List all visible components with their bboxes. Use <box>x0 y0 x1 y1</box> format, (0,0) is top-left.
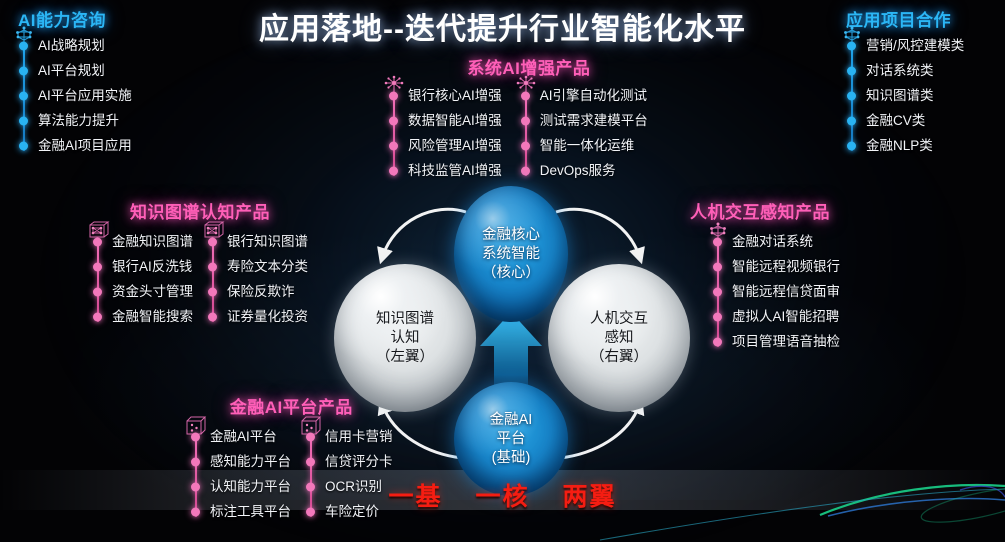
bullet-dot <box>93 237 102 246</box>
block-human-interaction: 人机交互感知产品 金融对话系统 智能远程视频银行 智能远程信贷面审 虚拟人AI智… <box>690 198 840 354</box>
list-item-label: 寿险文本分类 <box>227 259 308 274</box>
list-item-label: 测试需求建模平台 <box>540 113 648 128</box>
bullet-dot <box>208 237 217 246</box>
sphere-right-line-3: （右翼） <box>590 348 648 367</box>
list-column: 营销/风控建模类 对话系统类 知识图谱类 金融CV类 金融NLP类 <box>846 33 964 158</box>
list-column: AI战略规划 AI平台规划 AI平台应用实施 算法能力提升 金融AI项目应用 <box>18 33 132 158</box>
bullet-dot <box>208 262 217 271</box>
list-item-label: AI引擎自动化测试 <box>540 88 647 103</box>
bullet-dot <box>19 141 28 150</box>
list-item[interactable]: 算法能力提升 <box>38 108 132 133</box>
bullet-dot <box>847 141 856 150</box>
list-item[interactable]: 感知能力平台 <box>210 449 291 474</box>
bullet-dot <box>19 91 28 100</box>
list-item[interactable]: 科技监管AI增强 <box>408 158 502 183</box>
list-item[interactable]: 银行知识图谱 <box>227 229 308 254</box>
list-item-label: 金融知识图谱 <box>112 234 193 249</box>
list-item-label: 算法能力提升 <box>38 113 119 128</box>
list-item-label: DevOps服务 <box>540 163 616 178</box>
list-item[interactable]: 虚拟人AI智能招聘 <box>732 304 840 329</box>
slide-canvas: 应用落地--迭代提升行业智能化水平 AI能力咨询 AI战略规划 AI平台规划 A… <box>0 0 1005 542</box>
list-item[interactable]: 对话系统类 <box>866 58 964 83</box>
bullet-dot <box>93 312 102 321</box>
list-item[interactable]: 智能远程视频银行 <box>732 254 840 279</box>
list-item[interactable]: 保险反欺诈 <box>227 279 308 304</box>
bullet-dot <box>521 166 530 175</box>
list-spine <box>851 49 853 151</box>
core-diagram: 金融核心 系统智能 （核心） 知识图谱 认知 （左翼） 人机交互 感知 （右翼）… <box>316 186 706 496</box>
bullet-dot <box>191 432 200 441</box>
slogan-part-1: 一基 <box>389 477 443 513</box>
bullet-dot <box>713 237 722 246</box>
bullet-dot <box>713 312 722 321</box>
bullet-dot <box>306 457 315 466</box>
bullet-dot <box>19 41 28 50</box>
list-item-label: 项目管理语音抽检 <box>732 334 840 349</box>
list-item[interactable]: 银行AI反洗钱 <box>112 254 193 279</box>
bullet-dot <box>847 66 856 75</box>
list-item[interactable]: DevOps服务 <box>540 158 648 183</box>
list-column: 金融知识图谱 银行AI反洗钱 资金头寸管理 金融智能搜索 <box>92 229 193 329</box>
list-column: 银行核心AI增强 数据智能AI增强 风险管理AI增强 科技监管AI增强 <box>388 83 502 183</box>
list-item-label: 营销/风控建模类 <box>866 38 964 53</box>
list-item-label: 银行知识图谱 <box>227 234 308 249</box>
list-item[interactable]: 智能一体化运维 <box>540 133 648 158</box>
bullet-dot <box>191 457 200 466</box>
list-item[interactable]: 金融CV类 <box>866 108 964 133</box>
list-spine <box>23 49 25 151</box>
bullet-dot <box>208 287 217 296</box>
bullet-dot <box>521 91 530 100</box>
sphere-right-line-1: 人机交互 <box>590 310 648 329</box>
list-item[interactable]: AI平台规划 <box>38 58 132 83</box>
list-item[interactable]: 营销/风控建模类 <box>866 33 964 58</box>
list-item-label: 银行核心AI增强 <box>408 88 502 103</box>
list-group-knowledge-graph: 金融知识图谱 银行AI反洗钱 资金头寸管理 金融智能搜索 银行知识图谱 寿险文本… <box>92 229 308 329</box>
list-item-label: 保险反欺诈 <box>227 284 295 299</box>
list-item-label: 金融CV类 <box>866 113 925 128</box>
block-project-cooperation: 应用项目合作 营销/风控建模类 对话系统类 知识图谱类 金融CV类 金融NLP类 <box>846 6 964 158</box>
bullet-dot <box>306 432 315 441</box>
bullet-dot <box>713 287 722 296</box>
sphere-core-line-3: （核心） <box>482 264 540 283</box>
list-item[interactable]: 金融AI平台 <box>210 424 291 449</box>
bullet-dot <box>713 337 722 346</box>
bullet-dot <box>521 116 530 125</box>
block-system-ai-enhance: 系统AI增强产品 银行核心AI增强 数据智能AI增强 风险管理AI增强 科技监管… <box>388 54 648 183</box>
list-item[interactable]: 证券量化投资 <box>227 304 308 329</box>
bullet-dot <box>847 116 856 125</box>
list-item-label: 金融对话系统 <box>732 234 813 249</box>
list-item[interactable]: 金融对话系统 <box>732 229 840 254</box>
slogan-part-3: 两翼 <box>562 477 616 513</box>
bullet-dot <box>93 262 102 271</box>
sphere-left-line-3: （左翼） <box>376 348 434 367</box>
list-item[interactable]: 金融知识图谱 <box>112 229 193 254</box>
sphere-left-line-1: 知识图谱 <box>376 310 434 329</box>
bullet-dot <box>19 66 28 75</box>
bullet-dot <box>847 91 856 100</box>
list-spine <box>717 245 719 347</box>
sphere-right-line-2: 感知 <box>605 329 634 348</box>
slogan-part-2: 一核 <box>475 477 529 513</box>
list-item-label: 感知能力平台 <box>210 454 291 469</box>
bullet-dot <box>19 116 28 125</box>
list-item-label: 数据智能AI增强 <box>408 113 502 128</box>
list-item[interactable]: 金融NLP类 <box>866 133 964 158</box>
bullet-dot <box>93 287 102 296</box>
list-group-human-interaction: 金融对话系统 智能远程视频银行 智能远程信贷面审 虚拟人AI智能招聘 项目管理语… <box>712 229 840 354</box>
list-item[interactable]: 智能远程信贷面审 <box>732 279 840 304</box>
block-knowledge-graph: 知识图谱认知产品 金融知识图谱 银行AI反洗钱 资金头寸管理 金融智能搜索 <box>92 198 308 329</box>
list-spine <box>97 245 99 322</box>
list-spine <box>525 99 527 176</box>
bullet-dot <box>521 141 530 150</box>
list-item[interactable]: 风险管理AI增强 <box>408 133 502 158</box>
list-column: AI引擎自动化测试 测试需求建模平台 智能一体化运维 DevOps服务 <box>520 83 648 183</box>
list-group-project-cooperation: 营销/风控建模类 对话系统类 知识图谱类 金融CV类 金融NLP类 <box>846 33 964 158</box>
list-item[interactable]: 测试需求建模平台 <box>540 108 648 133</box>
list-item[interactable]: 金融AI项目应用 <box>38 133 132 158</box>
sphere-left-line-2: 认知 <box>391 329 420 348</box>
list-item[interactable]: AI战略规划 <box>38 33 132 58</box>
list-item[interactable]: 银行核心AI增强 <box>408 83 502 108</box>
bullet-dot <box>208 312 217 321</box>
block-title-knowledge-graph: 知识图谱认知产品 <box>92 198 308 223</box>
list-item-label: 智能远程信贷面审 <box>732 284 840 299</box>
bullet-dot <box>389 166 398 175</box>
list-column: 金融对话系统 智能远程视频银行 智能远程信贷面审 虚拟人AI智能招聘 项目管理语… <box>712 229 840 354</box>
slogan: 一基 一核 两翼 <box>0 477 1005 513</box>
bullet-dot <box>389 116 398 125</box>
sphere-base-line-3: (基础) <box>492 449 531 468</box>
list-group-system-ai-enhance: 银行核心AI增强 数据智能AI增强 风险管理AI增强 科技监管AI增强 AI引擎… <box>388 83 648 183</box>
list-item[interactable]: 金融智能搜索 <box>112 304 193 329</box>
list-item[interactable]: 资金头寸管理 <box>112 279 193 304</box>
list-item[interactable]: 知识图谱类 <box>866 83 964 108</box>
sphere-base-line-2: 平台 <box>497 430 526 449</box>
list-item-label: 智能一体化运维 <box>540 138 635 153</box>
list-item[interactable]: 数据智能AI增强 <box>408 108 502 133</box>
list-item-label: 金融AI项目应用 <box>38 138 132 153</box>
list-item[interactable]: 寿险文本分类 <box>227 254 308 279</box>
list-spine <box>212 245 214 322</box>
sphere-right-wing[interactable]: 人机交互 感知 （右翼） <box>548 264 690 412</box>
list-item-label: 科技监管AI增强 <box>408 163 502 178</box>
list-item-label: 知识图谱类 <box>866 88 934 103</box>
sphere-core[interactable]: 金融核心 系统智能 （核心） <box>454 186 568 322</box>
list-item[interactable]: 项目管理语音抽检 <box>732 329 840 354</box>
list-item-label: AI平台应用实施 <box>38 88 132 103</box>
sphere-core-line-2: 系统智能 <box>482 245 540 264</box>
list-item-label: 对话系统类 <box>866 63 934 78</box>
list-item-label: 银行AI反洗钱 <box>112 259 192 274</box>
list-group-ai-capability: AI战略规划 AI平台规划 AI平台应用实施 算法能力提升 金融AI项目应用 <box>18 33 132 158</box>
sphere-core-line-1: 金融核心 <box>482 226 540 245</box>
bullet-dot <box>713 262 722 271</box>
list-item-label: 证券量化投资 <box>227 309 308 324</box>
list-column: 银行知识图谱 寿险文本分类 保险反欺诈 证券量化投资 <box>207 229 308 329</box>
list-item-label: 金融NLP类 <box>866 138 933 153</box>
block-ai-capability: AI能力咨询 AI战略规划 AI平台规划 AI平台应用实施 算法能力提升 金融A… <box>18 6 132 158</box>
list-item[interactable]: AI平台应用实施 <box>38 83 132 108</box>
bullet-dot <box>389 91 398 100</box>
sphere-left-wing[interactable]: 知识图谱 认知 （左翼） <box>334 264 476 412</box>
list-item-label: 风险管理AI增强 <box>408 138 502 153</box>
list-item-label: 资金头寸管理 <box>112 284 193 299</box>
list-item[interactable]: AI引擎自动化测试 <box>540 83 648 108</box>
list-item-label: 智能远程视频银行 <box>732 259 840 274</box>
list-item-label: AI战略规划 <box>38 38 105 53</box>
list-item-label: 虚拟人AI智能招聘 <box>732 309 839 324</box>
sphere-base-line-1: 金融AI <box>490 411 533 430</box>
list-item-label: 金融智能搜索 <box>112 309 193 324</box>
list-item-label: AI平台规划 <box>38 63 105 78</box>
list-item-label: 金融AI平台 <box>210 429 277 444</box>
list-spine <box>393 99 395 176</box>
bullet-dot <box>389 141 398 150</box>
bullet-dot <box>847 41 856 50</box>
